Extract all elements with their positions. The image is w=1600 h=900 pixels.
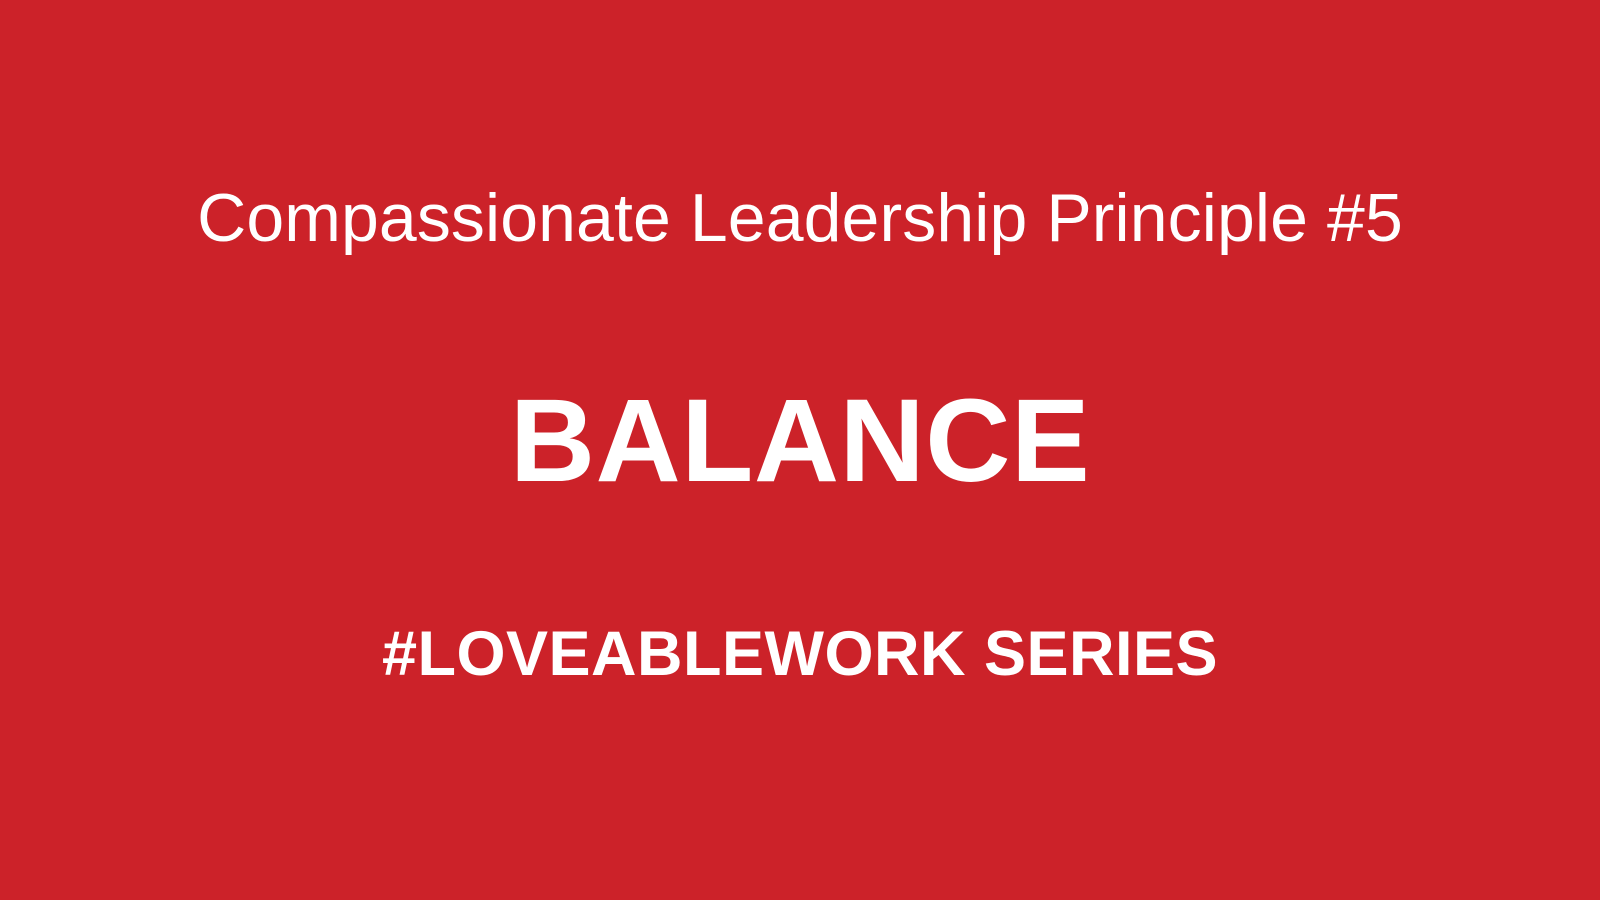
principle-heading: Compassionate Leadership Principle #5 (0, 177, 1600, 259)
title-slide: Compassionate Leadership Principle #5 BA… (0, 0, 1600, 900)
principle-title: BALANCE (0, 379, 1600, 503)
series-tag: #LOVEABLEWORK SERIES (0, 617, 1600, 691)
